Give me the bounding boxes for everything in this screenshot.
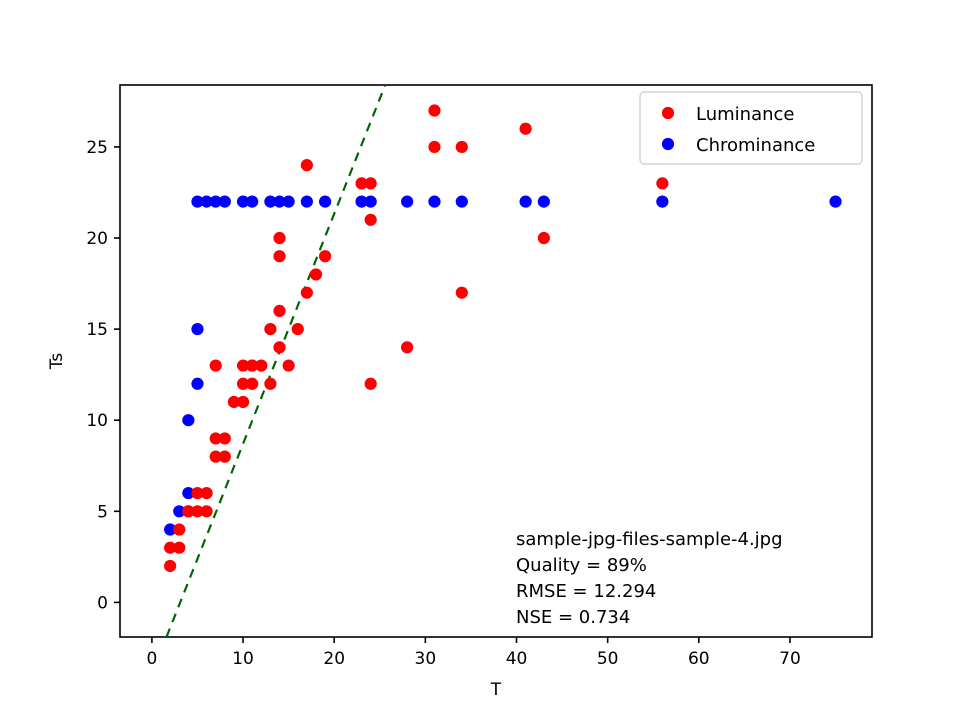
- data-point: [283, 195, 295, 207]
- data-point: [656, 177, 668, 189]
- annotation-line: Quality = 89%: [516, 555, 647, 576]
- annotation-line: NSE = 0.734: [516, 607, 630, 628]
- x-tick-label: 0: [146, 649, 157, 669]
- data-point: [283, 359, 295, 371]
- plot-area-background: [120, 85, 872, 637]
- data-point: [164, 560, 176, 572]
- data-point: [273, 305, 285, 317]
- x-tick-label: 50: [597, 649, 619, 669]
- data-point: [428, 195, 440, 207]
- y-axis-label: Ts: [47, 353, 67, 371]
- y-tick-label: 5: [97, 502, 108, 522]
- y-tick-label: 0: [97, 593, 108, 613]
- annotation-line: sample-jpg-files-sample-4.jpg: [516, 529, 783, 550]
- y-tick-label: 15: [86, 320, 108, 340]
- annotation-line: RMSE = 12.294: [516, 581, 656, 602]
- data-point: [301, 195, 313, 207]
- x-tick-label: 20: [323, 649, 345, 669]
- data-point: [829, 195, 841, 207]
- data-point: [264, 323, 276, 335]
- data-point: [210, 359, 222, 371]
- x-tick-label: 70: [779, 649, 801, 669]
- data-point: [173, 542, 185, 554]
- data-point: [365, 214, 377, 226]
- data-point: [520, 195, 532, 207]
- data-point: [219, 451, 231, 463]
- y-axis: 0510152025Ts: [47, 138, 120, 613]
- data-point: [219, 432, 231, 444]
- y-tick-label: 25: [86, 138, 108, 158]
- data-point: [428, 141, 440, 153]
- data-point: [182, 414, 194, 426]
- x-axis-label: T: [490, 680, 502, 700]
- data-point: [200, 505, 212, 517]
- data-point: [301, 159, 313, 171]
- data-point: [401, 195, 413, 207]
- data-point: [456, 287, 468, 299]
- data-point: [273, 341, 285, 353]
- data-point: [365, 195, 377, 207]
- data-point: [200, 487, 212, 499]
- data-point: [273, 250, 285, 262]
- data-point: [273, 232, 285, 244]
- data-point: [264, 378, 276, 390]
- legend-label-chrominance: Chrominance: [696, 135, 815, 156]
- data-point: [656, 195, 668, 207]
- data-point: [292, 323, 304, 335]
- data-point: [301, 287, 313, 299]
- data-point: [219, 195, 231, 207]
- data-point: [428, 104, 440, 116]
- data-point: [456, 141, 468, 153]
- data-point: [310, 268, 322, 280]
- x-axis: 010203040506070T: [146, 637, 800, 700]
- y-tick-label: 10: [86, 411, 108, 431]
- data-point: [365, 177, 377, 189]
- data-point: [520, 123, 532, 135]
- figure-canvas: 010203040506070T0510152025TsLuminanceChr…: [0, 0, 960, 720]
- data-point: [401, 341, 413, 353]
- data-point: [173, 523, 185, 535]
- scatter-plot: 010203040506070T0510152025TsLuminanceChr…: [0, 0, 960, 720]
- x-tick-label: 10: [232, 649, 254, 669]
- data-point: [365, 378, 377, 390]
- data-point: [319, 195, 331, 207]
- data-point: [191, 323, 203, 335]
- data-point: [255, 359, 267, 371]
- data-point: [538, 195, 550, 207]
- data-point: [246, 378, 258, 390]
- data-point: [319, 250, 331, 262]
- legend: LuminanceChrominance: [640, 92, 862, 164]
- data-point: [538, 232, 550, 244]
- legend-marker-chrominance: [662, 138, 674, 150]
- data-point: [246, 195, 258, 207]
- x-tick-label: 60: [688, 649, 710, 669]
- data-point: [456, 195, 468, 207]
- x-tick-label: 30: [415, 649, 437, 669]
- data-point: [237, 396, 249, 408]
- legend-label-luminance: Luminance: [696, 104, 794, 125]
- legend-marker-luminance: [662, 107, 674, 119]
- data-point: [191, 378, 203, 390]
- x-tick-label: 40: [506, 649, 528, 669]
- y-tick-label: 20: [86, 229, 108, 249]
